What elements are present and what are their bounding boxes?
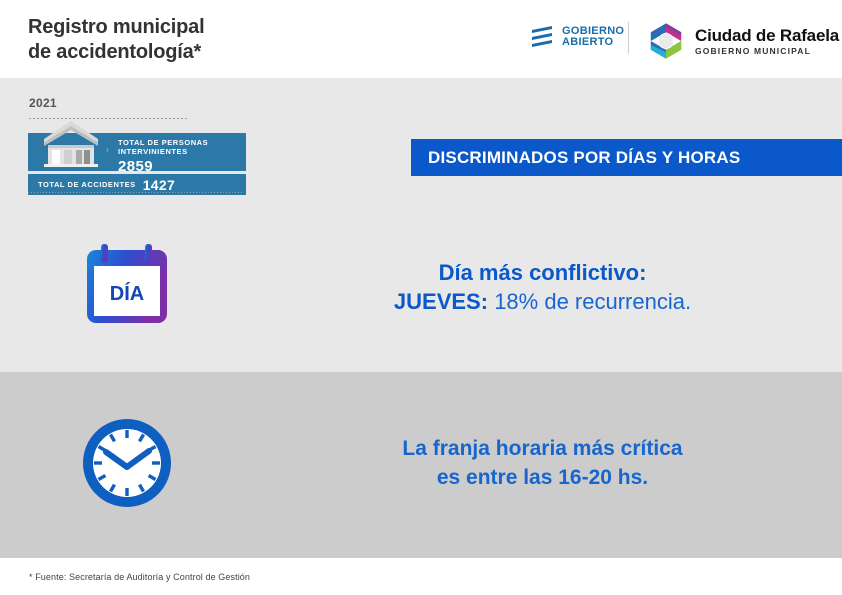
- stats-people-label: TOTAL DE PERSONAS INTERVINIENTES: [118, 138, 246, 156]
- ciudad-rafaela-logo: Ciudad de Rafaela GOBIERNO MUNICIPAL: [645, 21, 839, 61]
- stats-people-row: › TOTAL DE PERSONAS INTERVINIENTES 2859: [28, 133, 246, 171]
- calendar-icon: DÍA: [84, 240, 170, 326]
- waves-icon: [530, 25, 555, 49]
- page-title-line-1: Registro municipal: [28, 15, 204, 40]
- hour-line-1: La franja horaria más crítica: [375, 434, 710, 463]
- stats-box: › TOTAL DE PERSONAS INTERVINIENTES 2859 …: [28, 133, 246, 195]
- stats-people-text: TOTAL DE PERSONAS INTERVINIENTES 2859: [118, 138, 246, 175]
- stats-accidents-value: 1427: [143, 177, 175, 193]
- year-label: 2021: [29, 96, 57, 110]
- ciudad-rafaela-name: Ciudad de Rafaela: [695, 27, 839, 44]
- hour-line-2: es entre las 16-20 hs.: [375, 463, 710, 492]
- svg-text:DÍA: DÍA: [110, 282, 144, 305]
- stats-caret-icon: ›: [106, 146, 109, 154]
- gobierno-abierto-line-2: ABIERTO: [562, 37, 624, 49]
- hexagon-logo-icon: [645, 21, 687, 61]
- source-note: * Fuente: Secretaría de Auditoría y Cont…: [29, 572, 250, 582]
- section-banner-text: DISCRIMINADOS POR DÍAS Y HORAS: [411, 148, 740, 168]
- day-detail: 18% de recurrencia.: [494, 289, 691, 314]
- day-headline: Día más conflictivo:: [375, 258, 710, 287]
- stats-people-value: 2859: [118, 158, 246, 175]
- hour-message: La franja horaria más crítica es entre l…: [375, 434, 710, 492]
- ciudad-rafaela-text: Ciudad de Rafaela GOBIERNO MUNICIPAL: [695, 27, 839, 56]
- day-name: JUEVES:: [394, 289, 488, 314]
- page-title: Registro municipal de accidentología*: [28, 15, 204, 65]
- logo-divider: [628, 22, 629, 54]
- page-header: Registro municipal de accidentología* GO…: [0, 0, 842, 78]
- gobierno-abierto-text: GOBIERNO ABIERTO: [562, 26, 624, 49]
- gobierno-abierto-logo: GOBIERNO ABIERTO: [530, 25, 624, 49]
- stats-divider: [28, 192, 243, 193]
- stats-accidents-label: TOTAL DE ACCIDENTES: [38, 180, 136, 189]
- section-banner: DISCRIMINADOS POR DÍAS Y HORAS: [411, 139, 842, 176]
- day-section-background: [0, 78, 842, 372]
- day-detail-line: JUEVES: 18% de recurrencia.: [375, 287, 710, 316]
- infographic-page: Registro municipal de accidentología* GO…: [0, 0, 842, 595]
- ciudad-rafaela-subtitle: GOBIERNO MUNICIPAL: [695, 47, 839, 56]
- day-message: Día más conflictivo: JUEVES: 18% de recu…: [375, 258, 710, 316]
- clock-icon: [79, 415, 175, 511]
- page-title-line-2: de accidentología*: [28, 40, 204, 65]
